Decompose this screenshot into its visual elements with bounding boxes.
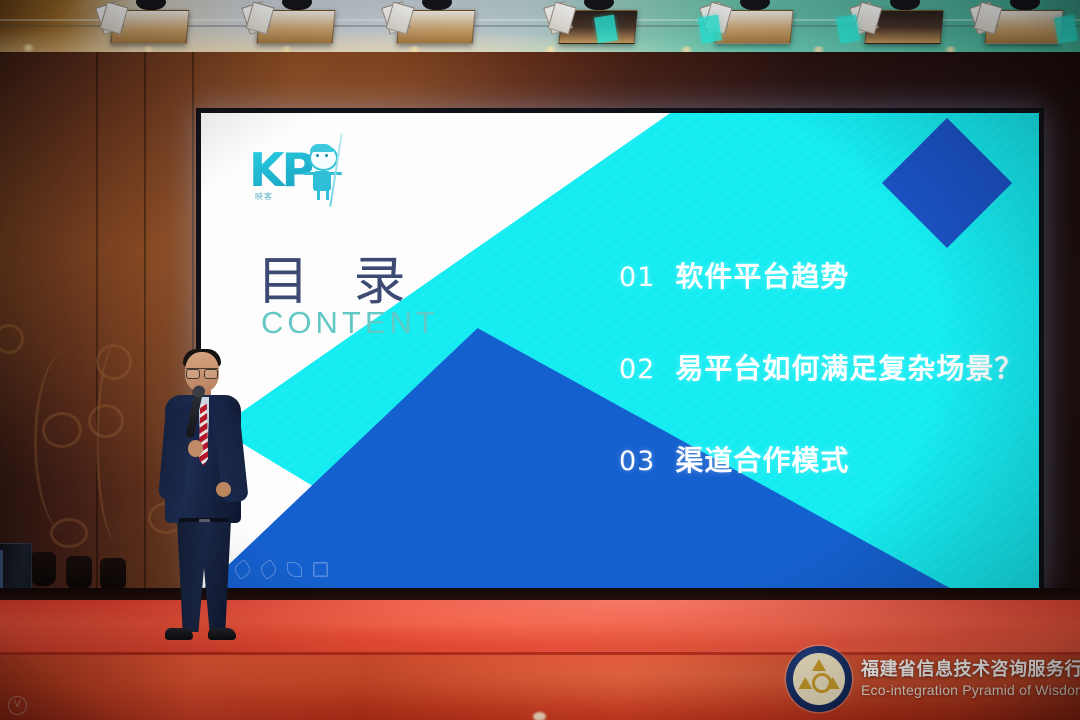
agenda-list: 01 软件平台趋势 02 易平台如何满足复杂场景？ 03 渠道合作模式 [619,255,1019,531]
agenda-item[interactable]: 03 渠道合作模式 [619,439,1019,479]
presenter-shoe-right [208,628,236,640]
wall-base-cone [100,558,126,592]
presenter-hand-left [188,440,203,457]
slide-brand-logo: KP 映客 [249,135,361,213]
association-name-en: Eco-integration Pyramid of Wisdom [861,682,1080,700]
association-text-block: 福建省信息技术咨询服务行业协会 Eco-integration Pyramid … [861,659,1080,699]
presentation-slide: KP 映客 目 录 CONTENT [201,113,1039,591]
led-screen: KP 映客 目 录 CONTENT [196,108,1044,596]
conference-stage-scene: KP 映客 目 录 CONTENT [0,0,1080,720]
association-watermark: 福建省信息技术咨询服务行业协会 Eco-integration Pyramid … [786,646,1080,712]
slide-title: 目 录 [257,239,420,314]
stage-floor-light-spot [533,712,546,720]
corner-watermark: V [8,696,27,715]
presenter-trousers [176,522,232,632]
agenda-item-label: 渠道合作模式 [675,439,849,479]
logo-sub-label: 映客 [255,191,273,202]
wall-decor-curve [34,352,97,532]
light-gel-flag-icon [698,15,722,44]
wall-base-cone [30,552,56,586]
wall-panel-seam [144,52,146,612]
agenda-item[interactable]: 02 易平台如何满足复杂场景？ [619,347,1019,387]
slide-grid-icon[interactable] [313,562,328,577]
agenda-item[interactable]: 01 软件平台趋势 [619,255,1019,295]
ceiling-light-truss [0,0,1080,56]
presenter-figure [152,352,262,648]
wall-base-cone [66,556,92,590]
agenda-item-number: 02 [619,354,655,385]
association-name-cn: 福建省信息技术咨询服务行业协会 [861,659,1080,682]
agenda-item-label: 软件平台趋势 [675,255,849,295]
light-gel-flag-icon [836,15,860,44]
light-gel-flag-icon [1054,15,1078,44]
ceiling-downlight-icon [22,44,35,52]
slide-subtitle: CONTENT [261,305,439,341]
agenda-item-number: 01 [619,262,655,293]
agenda-item-label: 易平台如何满足复杂场景？ [675,347,1023,387]
association-pyramid-badge-icon [786,646,852,712]
agenda-item-number: 03 [619,446,655,477]
glasses-icon [186,368,218,377]
presenter-hand-right [216,482,231,497]
light-gel-flag-icon [594,15,618,44]
pointer-icon[interactable] [287,562,302,577]
presenter-shoe-left [165,628,193,640]
wall-panel-seam [96,52,98,612]
wall-decor-curve [96,342,139,542]
